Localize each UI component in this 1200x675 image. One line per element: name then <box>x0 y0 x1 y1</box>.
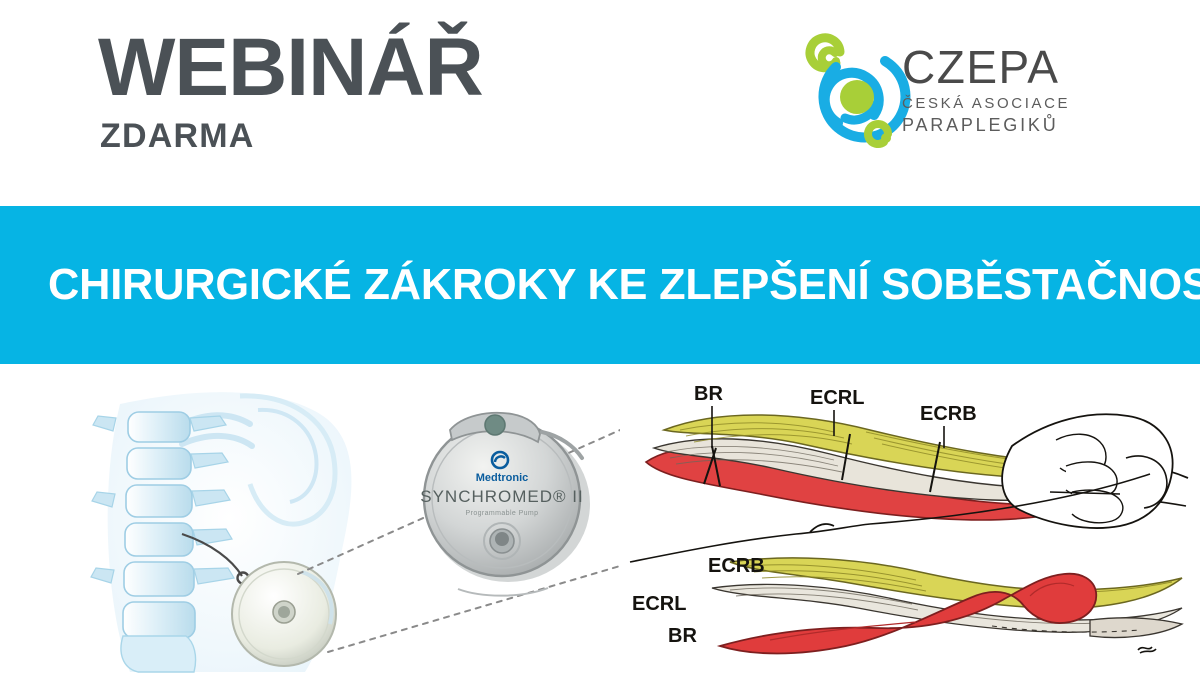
label-ecrl-top: ECRL <box>810 387 864 409</box>
czepa-logo[interactable]: CZEPA ČESKÁ ASOCIACE PARAPLEGIKŮ <box>790 28 1080 156</box>
label-ecrb-top: ECRB <box>920 403 977 425</box>
pump-closeup: Medtronic SYNCHROMED® II Programmable Pu… <box>420 413 590 596</box>
headline-block: WEBINÁŘ ZDARMA <box>98 30 483 153</box>
figure-intrathecal-pump: Medtronic SYNCHROMED® II Programmable Pu… <box>90 384 620 674</box>
green-core-circle <box>840 80 874 114</box>
page-title: WEBINÁŘ <box>98 30 483 105</box>
pump-subtitle-label: Programmable Pump <box>466 510 539 517</box>
pump-brand-label: Medtronic <box>476 472 529 484</box>
logo-tagline-line2: PARAPLEGIKŮ <box>902 115 1082 136</box>
label-br-bottom: BR <box>668 625 697 647</box>
implanted-pump-small <box>232 562 336 666</box>
forearm-top-panel: BR ECRL ECRB <box>646 383 1188 528</box>
page-subtitle: ZDARMA <box>100 119 483 153</box>
label-br-top: BR <box>694 383 723 405</box>
webinar-promo-slide: WEBINÁŘ ZDARMA <box>0 0 1200 675</box>
label-ecrl-bottom: ECRL <box>632 593 686 615</box>
banner-title: CHIRURGICKÉ ZÁKROKY KE ZLEPŠENÍ SOBĚSTAČ… <box>48 260 1200 310</box>
tendon-transfer-bottom-panel: ECRB ECRL BR <box>632 555 1182 654</box>
figures-strip: Medtronic SYNCHROMED® II Programmable Pu… <box>0 364 1200 675</box>
topic-banner: CHIRURGICKÉ ZÁKROKY KE ZLEPŠENÍ SOBĚSTAČ… <box>0 206 1200 364</box>
czepa-spiral-icon <box>790 28 918 156</box>
logo-name: CZEPA <box>902 44 1082 90</box>
czepa-logo-text: CZEPA ČESKÁ ASOCIACE PARAPLEGIKŮ <box>902 44 1082 136</box>
pump-model-label: SYNCHROMED® II <box>420 487 583 506</box>
logo-tagline-line1: ČESKÁ ASOCIACE <box>902 95 1082 112</box>
header: WEBINÁŘ ZDARMA <box>0 0 1200 206</box>
muscle-ecrb-bottom <box>730 558 1182 608</box>
signature-mark <box>1138 647 1156 653</box>
hand-fist-illustration <box>1002 414 1172 528</box>
label-ecrb-bottom: ECRB <box>708 555 765 577</box>
figure-tendon-transfer: BR ECRL ECRB <box>620 374 1190 669</box>
